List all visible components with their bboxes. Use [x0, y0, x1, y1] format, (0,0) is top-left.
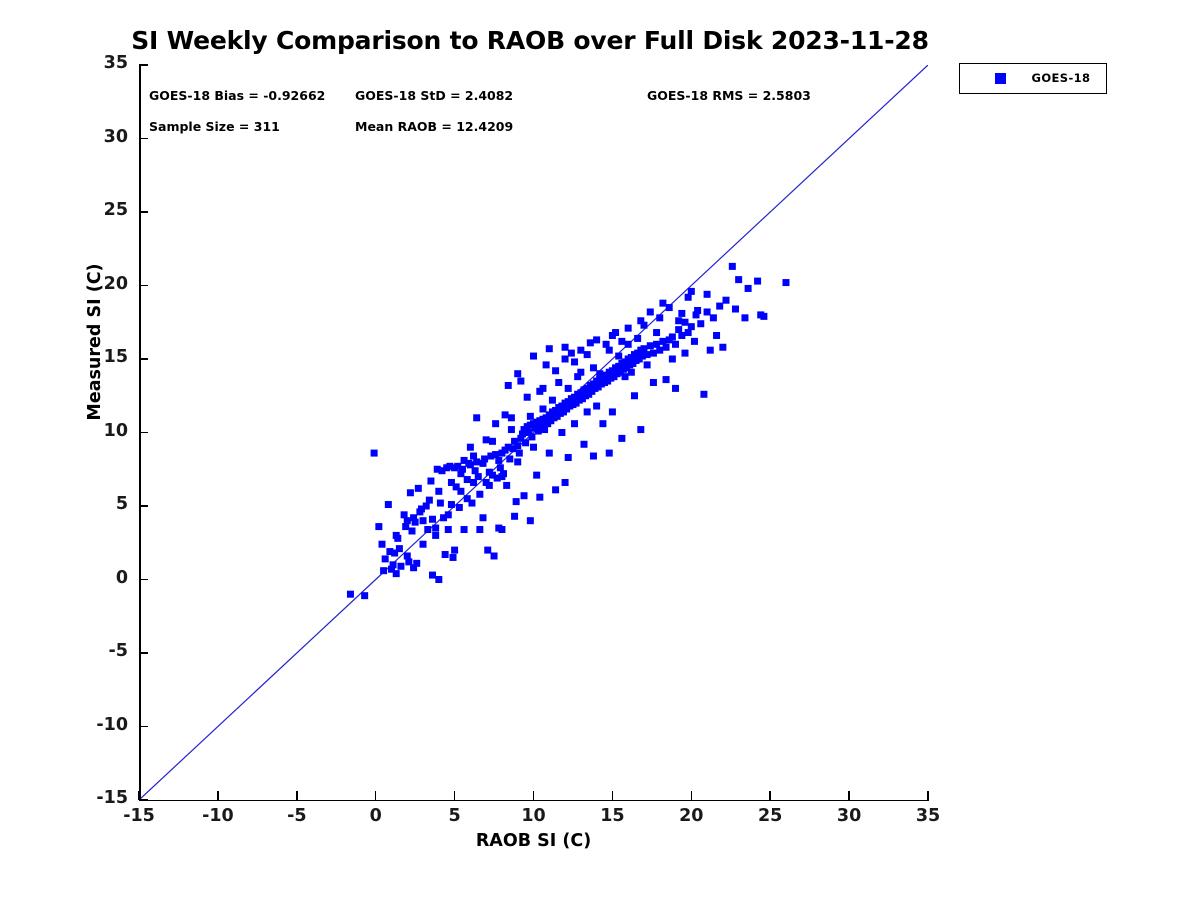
scatter-point — [637, 317, 644, 324]
scatter-point — [502, 411, 509, 418]
scatter-point — [426, 497, 433, 504]
scatter-point — [704, 291, 711, 298]
x-tick-mark — [769, 791, 771, 800]
chart-figure: SI Weekly Comparison to RAOB over Full D… — [0, 0, 1200, 900]
scatter-point — [475, 473, 482, 480]
scatter-point — [527, 413, 534, 420]
scatter-point — [656, 347, 663, 354]
x-tick-mark — [533, 791, 535, 800]
y-tick-mark — [139, 211, 148, 213]
scatter-point — [492, 420, 499, 427]
y-axis-label: Measured SI (C) — [85, 222, 105, 462]
scatter-point — [609, 408, 616, 415]
scatter-point — [467, 444, 474, 451]
scatter-point — [396, 545, 403, 552]
scatter-point — [539, 405, 546, 412]
scatter-point — [644, 351, 651, 358]
y-tick-label: -5 — [68, 641, 128, 661]
scatter-point — [483, 436, 490, 443]
scatter-point — [628, 369, 635, 376]
scatter-point — [732, 306, 739, 313]
scatter-point — [514, 458, 521, 465]
scatter-point — [432, 532, 439, 539]
scatter-point — [729, 263, 736, 270]
scatter-point — [385, 501, 392, 508]
scatter-point — [420, 517, 427, 524]
scatter-point — [745, 285, 752, 292]
scatter-point — [549, 397, 556, 404]
scatter-point — [498, 473, 505, 480]
scatter-point — [524, 394, 531, 401]
scatter-point — [481, 455, 488, 462]
x-tick-label: -15 — [104, 806, 174, 826]
scatter-point — [700, 391, 707, 398]
scatter-point — [420, 541, 427, 548]
scatter-point — [418, 505, 425, 512]
x-tick-mark — [375, 791, 377, 800]
legend[interactable]: GOES-18 — [959, 63, 1107, 94]
scatter-point — [445, 511, 452, 518]
y-tick-label: 30 — [68, 127, 128, 147]
x-tick-mark — [454, 791, 456, 800]
x-tick-label: 5 — [420, 806, 490, 826]
scatter-point — [669, 333, 676, 340]
one-to-one-reference-line — [139, 65, 928, 800]
scatter-point — [719, 344, 726, 351]
scatter-point — [407, 489, 414, 496]
scatter-point — [568, 350, 575, 357]
scatter-point — [522, 439, 529, 446]
scatter-point — [402, 523, 409, 530]
scatter-point — [666, 304, 673, 311]
scatter-point — [508, 414, 515, 421]
scatter-point — [543, 361, 550, 368]
scatter-point — [590, 364, 597, 371]
scatter-point — [445, 526, 452, 533]
scatter-point — [552, 367, 559, 374]
scatter-point — [631, 392, 638, 399]
y-tick-mark — [139, 138, 148, 140]
scatter-point — [672, 385, 679, 392]
scatter-point — [415, 485, 422, 492]
scatter-points-group — [347, 263, 790, 599]
y-tick-mark — [139, 358, 148, 360]
scatter-point — [580, 441, 587, 448]
scatter-point — [558, 429, 565, 436]
scatter-point — [593, 336, 600, 343]
scatter-point — [584, 351, 591, 358]
scatter-point — [456, 504, 463, 511]
scatter-point — [382, 555, 389, 562]
scatter-point — [347, 591, 354, 598]
x-tick-mark — [691, 791, 693, 800]
scatter-point — [511, 513, 518, 520]
scatter-point — [371, 450, 378, 457]
scatter-point — [533, 472, 540, 479]
scatter-point — [429, 572, 436, 579]
page-title: SI Weekly Comparison to RAOB over Full D… — [0, 26, 1060, 55]
scatter-point — [470, 453, 477, 460]
scatter-point — [379, 541, 386, 548]
x-tick-mark — [296, 791, 298, 800]
scatter-point — [495, 457, 502, 464]
scatter-point — [571, 358, 578, 365]
scatter-point — [508, 426, 515, 433]
scatter-point — [663, 376, 670, 383]
scatter-point — [361, 592, 368, 599]
scatter-point — [527, 517, 534, 524]
scatter-point — [442, 551, 449, 558]
scatter-point — [707, 347, 714, 354]
scatter-point — [476, 491, 483, 498]
y-tick-mark — [139, 64, 148, 66]
scatter-point — [618, 435, 625, 442]
scatter-point — [498, 526, 505, 533]
scatter-point — [593, 403, 600, 410]
scatter-point — [590, 453, 597, 460]
scatter-point — [375, 523, 382, 530]
scatter-point — [435, 488, 442, 495]
scatter-point — [562, 356, 569, 363]
scatter-point — [393, 570, 400, 577]
scatter-point — [480, 514, 487, 521]
scatter-point — [484, 547, 491, 554]
scatter-point — [754, 278, 761, 285]
scatter-point — [675, 317, 682, 324]
scatter-point — [390, 561, 397, 568]
scatter-point — [663, 344, 670, 351]
scatter-point — [571, 420, 578, 427]
scatter-point — [536, 388, 543, 395]
y-tick-label: 5 — [68, 494, 128, 514]
scatter-point — [637, 426, 644, 433]
scatter-point — [599, 420, 606, 427]
scatter-point — [404, 552, 411, 559]
scatter-point — [757, 311, 764, 318]
scatter-point — [669, 356, 676, 363]
scatter-point — [587, 339, 594, 346]
scatter-point — [489, 438, 496, 445]
scatter-point — [546, 345, 553, 352]
scatter-point — [448, 479, 455, 486]
scatter-point — [408, 527, 415, 534]
scatter-point — [506, 455, 513, 462]
scatter-point — [491, 552, 498, 559]
legend-marker-goes-18 — [995, 73, 1006, 84]
scatter-point — [672, 341, 679, 348]
scatter-point — [530, 444, 537, 451]
scatter-plot-canvas — [139, 65, 928, 800]
scatter-point — [606, 347, 613, 354]
scatter-point — [410, 514, 417, 521]
scatter-point — [650, 350, 657, 357]
scatter-point — [461, 457, 468, 464]
scatter-point — [609, 332, 616, 339]
y-tick-label: 25 — [68, 200, 128, 220]
x-tick-label: 35 — [893, 806, 963, 826]
scatter-point — [530, 353, 537, 360]
scatter-point — [688, 323, 695, 330]
scatter-point — [584, 408, 591, 415]
y-tick-label: 35 — [68, 53, 128, 73]
scatter-point — [464, 476, 471, 483]
scatter-point — [704, 308, 711, 315]
scatter-point — [380, 567, 387, 574]
x-axis-label: RAOB SI (C) — [139, 831, 928, 851]
scatter-point — [606, 450, 613, 457]
y-tick-label: -15 — [68, 788, 128, 808]
scatter-point — [691, 338, 698, 345]
scatter-point — [393, 532, 400, 539]
legend-label-goes-18: GOES-18 — [1022, 71, 1100, 85]
scatter-point — [503, 482, 510, 489]
y-tick-mark — [139, 505, 148, 507]
scatter-point — [577, 347, 584, 354]
x-tick-mark — [848, 791, 850, 800]
scatter-point — [688, 288, 695, 295]
scatter-point — [410, 564, 417, 571]
scatter-point — [634, 335, 641, 342]
scatter-point — [451, 547, 458, 554]
scatter-point — [782, 279, 789, 286]
scatter-point — [464, 495, 471, 502]
scatter-point — [473, 414, 480, 421]
scatter-point — [647, 308, 654, 315]
scatter-point — [546, 450, 553, 457]
scatter-point — [596, 370, 603, 377]
x-tick-mark — [138, 791, 140, 800]
x-tick-label: 0 — [341, 806, 411, 826]
y-tick-mark — [139, 579, 148, 581]
scatter-point — [615, 353, 622, 360]
scatter-point — [514, 370, 521, 377]
y-tick-mark — [139, 432, 148, 434]
x-tick-label: -5 — [262, 806, 332, 826]
scatter-point — [552, 486, 559, 493]
y-tick-mark — [139, 652, 148, 654]
scatter-point — [397, 563, 404, 570]
scatter-point — [653, 329, 660, 336]
scatter-point — [437, 500, 444, 507]
y-tick-mark — [139, 726, 148, 728]
x-tick-label: 25 — [735, 806, 805, 826]
scatter-point — [536, 494, 543, 501]
scatter-point — [723, 297, 730, 304]
scatter-point — [618, 338, 625, 345]
x-tick-label: 15 — [577, 806, 647, 826]
y-tick-mark — [139, 285, 148, 287]
scatter-point — [486, 482, 493, 489]
scatter-point — [625, 341, 632, 348]
y-tick-label: 0 — [68, 568, 128, 588]
scatter-point — [429, 516, 436, 523]
scatter-point — [457, 488, 464, 495]
scatter-point — [659, 300, 666, 307]
scatter-point — [461, 526, 468, 533]
scatter-point — [647, 342, 654, 349]
scatter-point — [386, 548, 393, 555]
y-tick-label: -10 — [68, 715, 128, 735]
scatter-point — [644, 361, 651, 368]
scatter-point — [678, 332, 685, 339]
scatter-point — [565, 385, 572, 392]
scatter-point — [514, 442, 521, 449]
scatter-point — [656, 314, 663, 321]
scatter-point — [562, 344, 569, 351]
scatter-point — [681, 350, 688, 357]
scatter-point — [562, 479, 569, 486]
scatter-point — [513, 498, 520, 505]
scatter-point — [476, 526, 483, 533]
scatter-point — [505, 382, 512, 389]
scatter-point — [516, 450, 523, 457]
scatter-point — [424, 526, 431, 533]
scatter-point — [697, 320, 704, 327]
scatter-point — [435, 576, 442, 583]
scatter-point — [521, 492, 528, 499]
scatter-point — [741, 314, 748, 321]
scatter-point — [713, 332, 720, 339]
scatter-point — [716, 303, 723, 310]
scatter-point — [565, 454, 572, 461]
scatter-point — [517, 378, 524, 385]
x-tick-label: 10 — [499, 806, 569, 826]
scatter-plot-area — [139, 65, 928, 800]
scatter-point — [457, 470, 464, 477]
x-tick-mark — [217, 791, 219, 800]
scatter-point — [622, 373, 629, 380]
scatter-point — [625, 325, 632, 332]
scatter-point — [650, 379, 657, 386]
scatter-point — [577, 369, 584, 376]
scatter-point — [694, 307, 701, 314]
scatter-point — [555, 379, 562, 386]
scatter-point — [448, 501, 455, 508]
x-tick-label: 20 — [656, 806, 726, 826]
y-tick-mark — [139, 799, 148, 801]
x-tick-mark — [612, 791, 614, 800]
scatter-point — [432, 525, 439, 532]
x-tick-label: 30 — [814, 806, 884, 826]
x-tick-label: -10 — [183, 806, 253, 826]
scatter-point — [681, 319, 688, 326]
x-tick-mark — [927, 791, 929, 800]
scatter-point — [735, 276, 742, 283]
scatter-point — [427, 478, 434, 485]
scatter-point — [678, 310, 685, 317]
scatter-point — [528, 433, 535, 440]
scatter-point — [450, 554, 457, 561]
scatter-point — [710, 314, 717, 321]
